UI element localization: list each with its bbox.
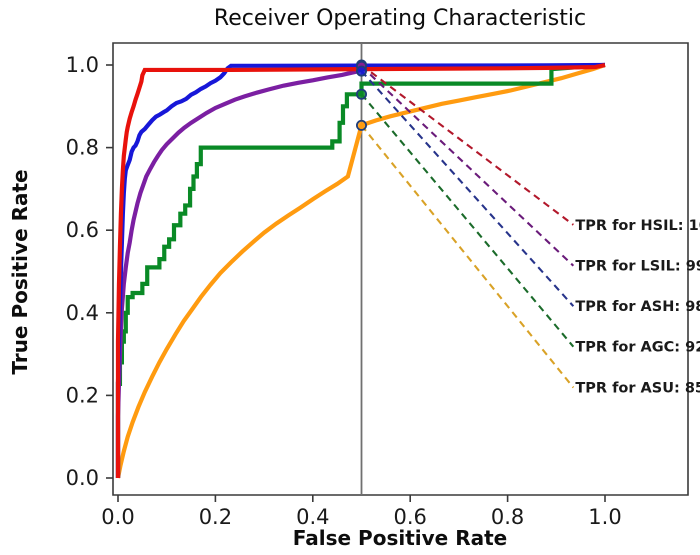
roc-chart-figure: Receiver Operating Characteristic 0.00.2… [0, 0, 700, 555]
x-axis-label: False Positive Rate [293, 526, 507, 550]
annotation-hsil: TPR for HSIL: 100.00% [575, 218, 700, 234]
y-tick-label: 0.0 [66, 466, 99, 490]
threshold-marker-asu [357, 121, 366, 130]
x-tick-label: 0.0 [101, 505, 134, 529]
annotation-asu: TPR for ASU: 85.39% [575, 381, 700, 397]
x-tick-label: 1.0 [588, 505, 621, 529]
annotation-lsil: TPR for LSIL: 99.69% [575, 259, 700, 275]
y-tick-label: 0.8 [66, 136, 99, 160]
y-tick-label: 0.4 [66, 301, 99, 325]
threshold-marker-ash [357, 67, 366, 76]
y-tick-label: 1.0 [66, 53, 99, 77]
threshold-marker-agc [357, 90, 366, 99]
y-axis-label: True Positive Rate [8, 169, 32, 374]
roc-chart-svg: Receiver Operating Characteristic 0.00.2… [0, 0, 700, 555]
y-tick-label: 0.2 [66, 383, 99, 407]
chart-title: Receiver Operating Characteristic [214, 6, 586, 31]
y-tick-label: 0.6 [66, 218, 99, 242]
annotation-ash: TPR for ASH: 98.52% [575, 299, 700, 315]
figure-background [0, 0, 700, 555]
x-tick-label: 0.2 [199, 505, 232, 529]
annotation-agc: TPR for AGC: 92.93% [575, 340, 700, 356]
